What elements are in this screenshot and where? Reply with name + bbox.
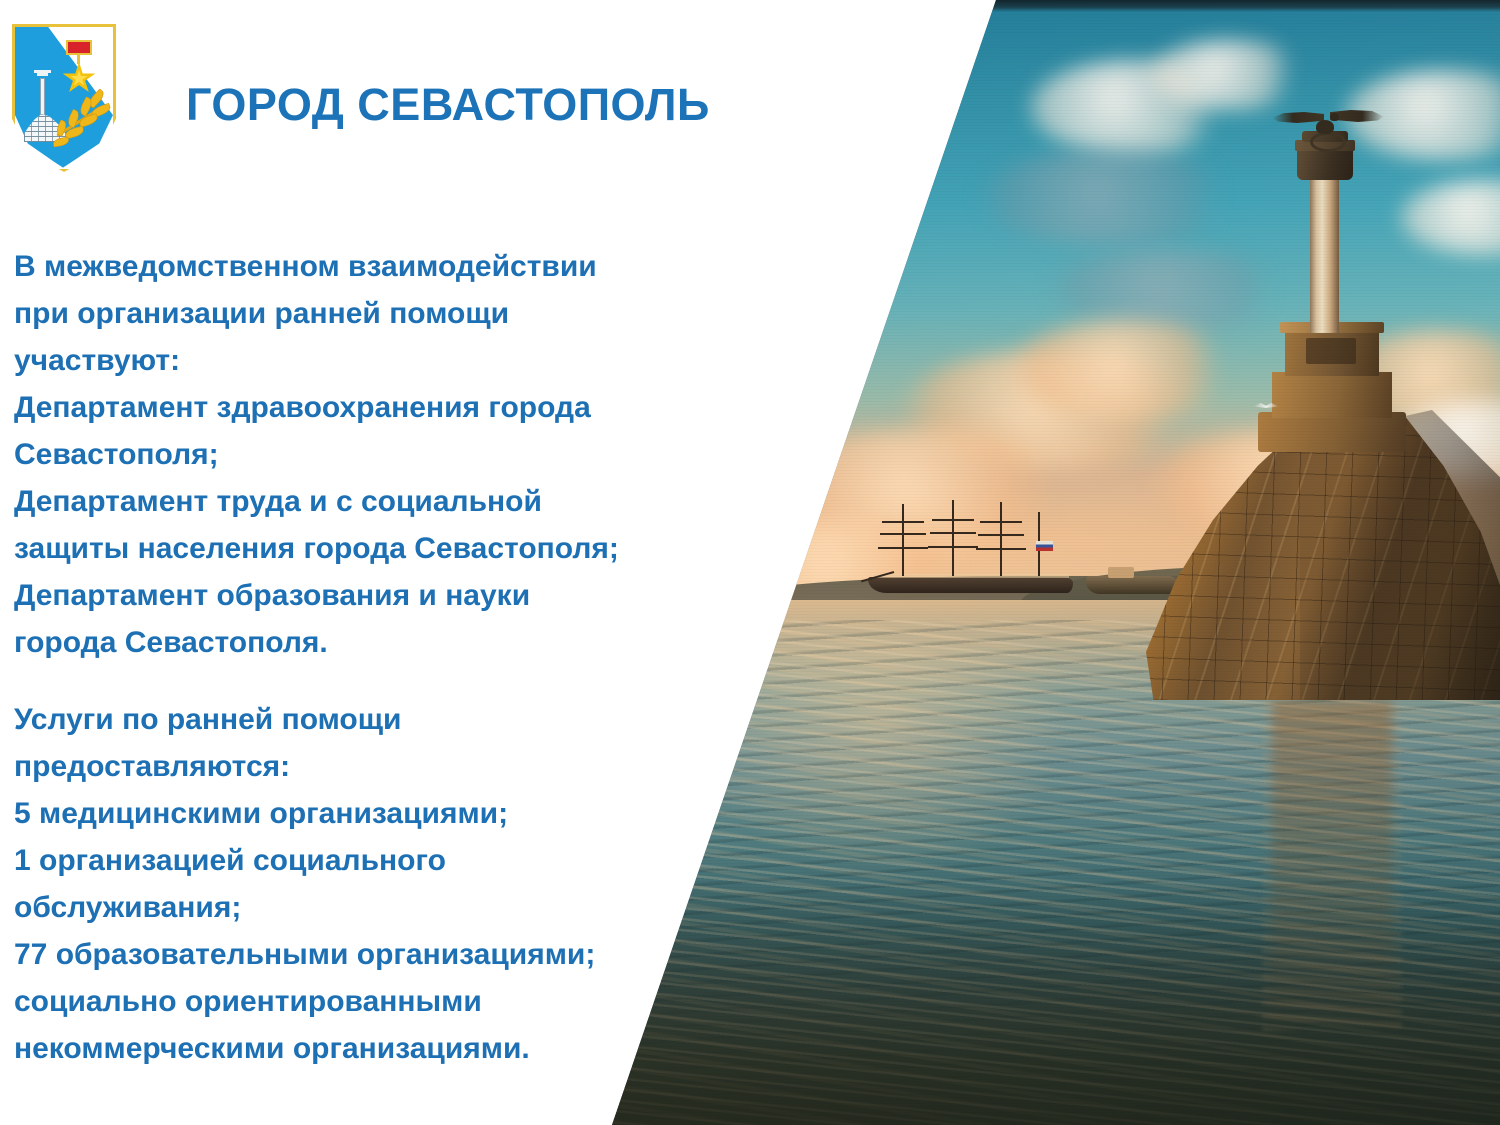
page-title: ГОРОД СЕВАСТОПОЛЬ [186,79,710,131]
text-line: Услуги по ранней помощи [14,696,714,743]
bronze-eagle [1316,120,1334,134]
ship-yard [930,532,976,534]
monument-capital-mark [37,73,48,76]
laurel-branch-icon [53,88,111,150]
cloud [980,150,1240,245]
text-line: Департамент образования и науки [14,572,704,619]
text-line: Севастополя; [14,431,704,478]
cloud [1050,250,1290,330]
ship-mast [1000,502,1002,576]
medal-ribbon-bar-icon [66,40,92,55]
tugboat [1086,576,1178,594]
slide-canvas: ГОРОД СЕВАСТОПОЛЬ В межведомственном вза… [0,0,1500,1125]
text-line: участвуют: [14,337,704,384]
monument-column-mark [40,78,45,118]
text-line: предоставляются: [14,743,714,790]
ship-yard [928,546,978,548]
services-text-block: Услуги по ранней помощи предоставляются:… [14,696,714,1072]
ship-mast [952,500,954,576]
eagle-wreath-ring [1310,132,1346,152]
ship-yard [976,548,1026,550]
text-line: защиты населения города Севастополя; [14,525,704,572]
eagle-head [1330,113,1339,121]
monument-column [1310,175,1339,333]
tall-ship [860,505,1090,600]
pedestal-lower [1258,412,1406,452]
reflection-streaks [1262,700,1402,1030]
text-line: 5 медицинскими организациями; [14,790,714,837]
tugboat-cabin [1108,567,1134,578]
cloud [1150,40,1310,110]
text-line: обслуживания; [14,884,714,931]
ship-yard [980,521,1022,523]
text-line: 1 организацией социального [14,837,714,884]
laurel-leaf [52,137,69,148]
text-line: 77 образовательными организациями; [14,931,714,978]
pedestal-plaque [1306,338,1356,364]
medal-link [77,55,80,64]
pedestal-middle [1272,372,1392,418]
participants-text-block: В межведомственном взаимодействии при ор… [14,243,704,666]
text-line: социально ориентированными [14,978,714,1025]
ship-yard [878,547,928,549]
text-line: Департамент здравоохранения города [14,384,704,431]
ship-yard [932,519,974,521]
text-line: города Севастополя. [14,619,704,666]
text-line: В межведомственном взаимодействии [14,243,704,290]
ship-yard [882,521,924,523]
ship-yard [978,534,1024,536]
text-line: при организации ранней помощи [14,290,704,337]
ship-mast [902,504,904,576]
text-line: Департамент труда и с социальной [14,478,704,525]
russian-flag [1036,541,1053,551]
cloud [1010,320,1240,420]
text-line: некоммерческими организациями. [14,1025,714,1072]
photo-top-edge [0,0,1500,12]
corinthian-capital [1297,148,1353,180]
ship-yard [880,533,926,535]
rock-shadow [1300,410,1500,700]
ship-hull [868,577,1073,593]
coat-of-arms-of-sevastopol-icon [8,22,120,174]
